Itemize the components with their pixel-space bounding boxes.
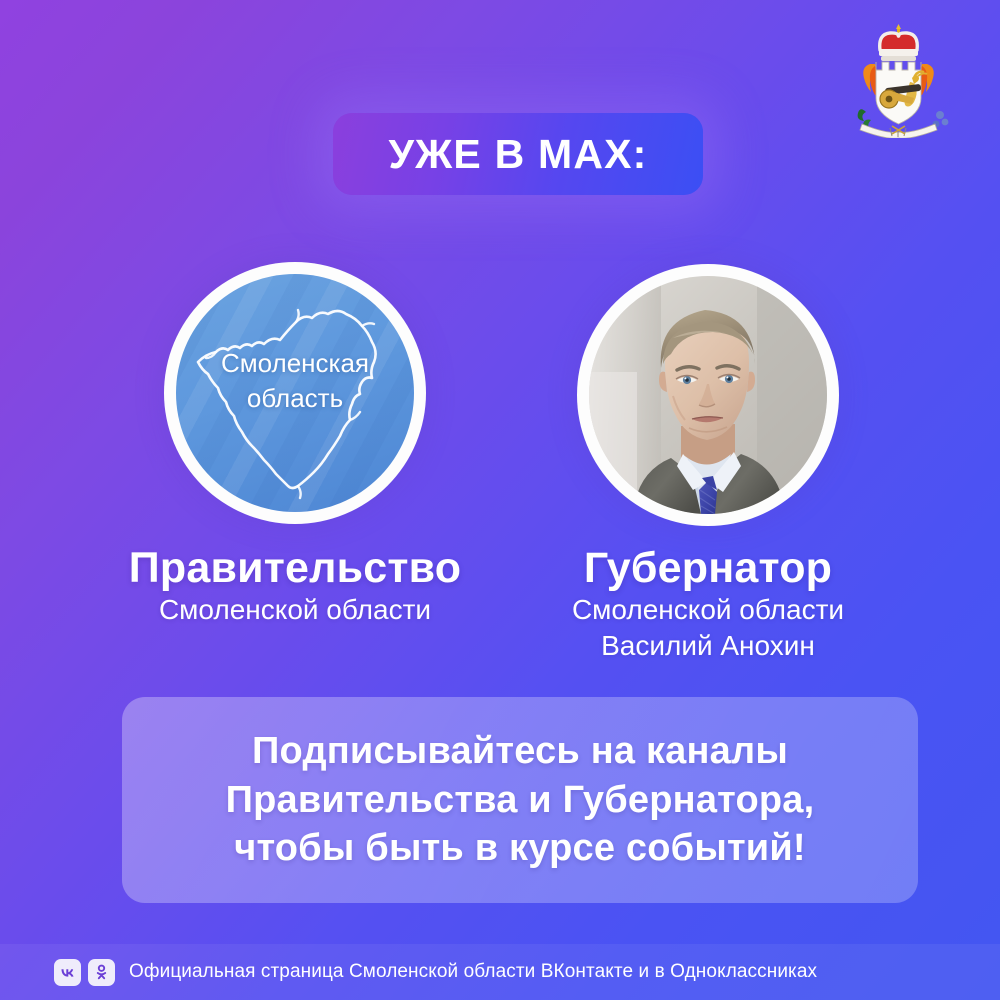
cta-line-2: Правительства и Губернатора, — [226, 776, 815, 825]
government-subtitle-1: Смоленской области — [65, 592, 525, 628]
map-label: Смоленская область — [176, 346, 414, 415]
footer-bar: Официальная страница Смоленской области … — [0, 944, 1000, 1000]
map-label-line1: Смоленская — [176, 346, 414, 381]
vk-icon[interactable] — [54, 959, 81, 986]
cta-line-3: чтобы быть в курсе событий! — [234, 824, 806, 873]
avatar-government[interactable]: Смоленская область — [164, 262, 426, 524]
footer-text: Официальная страница Смоленской области … — [129, 961, 817, 983]
avatar-governor[interactable] — [577, 264, 839, 526]
avatar-government-image: Смоленская область — [176, 274, 414, 512]
ok-icon[interactable] — [88, 959, 115, 986]
card-caption-government: Правительство Смоленской области — [65, 545, 525, 628]
governor-title: Губернатор — [478, 545, 938, 592]
title-badge-label: УЖЕ В MAX: — [388, 131, 647, 178]
avatar-governor-image — [589, 276, 827, 514]
cta-panel: Подписывайтесь на каналы Правительства и… — [122, 697, 918, 903]
card-caption-governor: Губернатор Смоленской области Василий Ан… — [478, 545, 938, 664]
title-badge: УЖЕ В MAX: — [333, 113, 703, 195]
map-illustration: Смоленская область — [176, 274, 414, 512]
cta-line-1: Подписывайтесь на каналы — [252, 727, 788, 776]
governor-subtitle-2: Василий Анохин — [478, 628, 938, 664]
coat-of-arms-icon — [852, 20, 958, 138]
government-title: Правительство — [65, 545, 525, 592]
governor-subtitle-1: Смоленской области — [478, 592, 938, 628]
poster-canvas: УЖЕ В MAX: Смоленская область — [0, 0, 1000, 1000]
map-label-line2: область — [176, 381, 414, 416]
